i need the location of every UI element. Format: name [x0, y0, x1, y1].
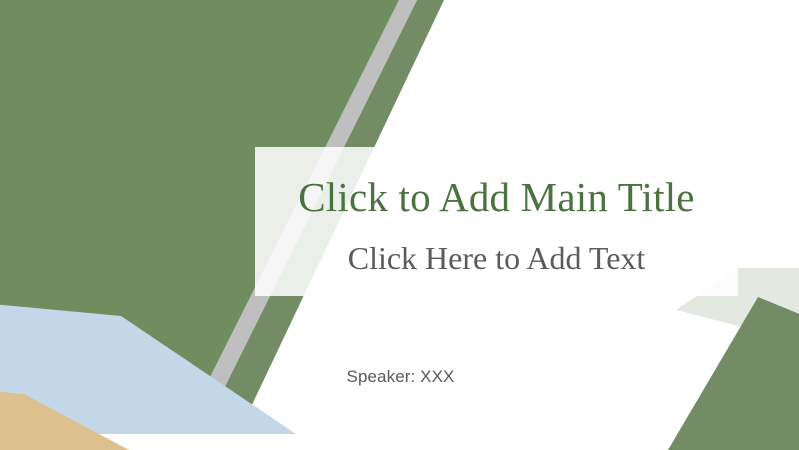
speaker-text[interactable]: Speaker: XXX	[347, 367, 455, 387]
tan-wedge-bottom-shape	[0, 388, 129, 450]
title-slide: Click to Add Main Title Click Here to Ad…	[0, 0, 799, 450]
tan-wedge-top-shape	[58, 0, 236, 77]
title-placeholder-group[interactable]: Click to Add Main Title Click Here to Ad…	[255, 147, 738, 296]
main-title-placeholder[interactable]: Click to Add Main Title	[298, 147, 694, 218]
speaker-placeholder[interactable]: Speaker: XXX	[0, 367, 799, 387]
subtitle-placeholder[interactable]: Click Here to Add Text	[348, 218, 646, 274]
